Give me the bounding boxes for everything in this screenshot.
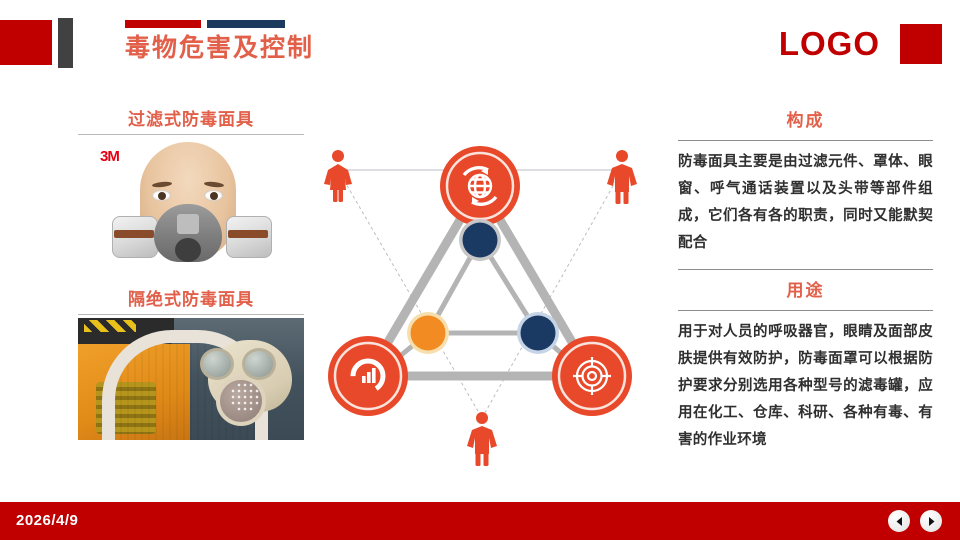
logo-square <box>900 24 942 64</box>
triangle-network-diagram <box>300 118 660 468</box>
right-text-column: 构成 防毒面具主要是由过滤元件、罩体、眼窗、呼气通话装置以及头带等部件组成，它们… <box>678 108 933 454</box>
footer-date: 2026/4/9 <box>16 512 78 529</box>
hazard-tape <box>84 320 136 332</box>
filter-respirator-photo: 3M <box>78 138 304 278</box>
left-image-column: 过滤式防毒面具 3M 隔绝式防毒面具 <box>78 108 304 440</box>
person-male-bottom <box>467 412 497 466</box>
pupil-left <box>158 192 166 200</box>
person-female-left <box>324 150 352 202</box>
outer-node-chart <box>328 336 408 416</box>
header-accent-bar-navy <box>207 20 285 28</box>
section-rule-1 <box>678 140 933 141</box>
prev-slide-button[interactable] <box>888 510 910 532</box>
caption-rule-bottom <box>78 314 304 315</box>
outer-node-globe <box>440 146 520 226</box>
inner-node-orange <box>407 312 449 354</box>
header-gray-block <box>58 18 73 68</box>
caption-rule-top <box>78 134 304 135</box>
header-red-block <box>0 20 52 65</box>
next-slide-button[interactable] <box>920 510 942 532</box>
filter-perforation-grid <box>230 382 260 412</box>
slide-root: 毒物危害及控制 LOGO 过滤式防毒面具 3M 隔绝式防毒面具 <box>0 0 960 540</box>
pupil-right <box>210 192 218 200</box>
outer-node-target <box>552 336 632 416</box>
mask-lens-right <box>242 348 276 380</box>
cartridge-strip-left <box>114 230 154 238</box>
section-rule-2 <box>678 269 933 270</box>
section-title-usage: 用途 <box>678 278 933 304</box>
arrow-right-icon <box>925 515 938 528</box>
person-male-right <box>607 150 637 204</box>
inner-node-navy-top <box>459 219 501 261</box>
panel-caption-filter: 过滤式防毒面具 <box>78 108 304 132</box>
slide-header: 毒物危害及控制 LOGO <box>0 0 960 92</box>
brand-3m-label: 3M <box>100 148 119 165</box>
mask-center-plate <box>177 214 199 234</box>
arrow-left-icon <box>893 515 906 528</box>
cartridge-strip-right <box>228 230 268 238</box>
mask-lens-left <box>200 348 234 380</box>
section-title-composition: 构成 <box>678 108 933 134</box>
page-title: 毒物危害及控制 <box>125 33 314 63</box>
header-accent-bar-red <box>125 20 201 28</box>
slide-footer: 2026/4/9 <box>0 502 960 540</box>
inner-node-navy-right <box>517 312 559 354</box>
exhalation-valve <box>175 238 201 262</box>
isolating-gas-mask-photo <box>78 318 304 440</box>
section-body-composition: 防毒面具主要是由过滤元件、罩体、眼窗、呼气通话装置以及头带等部件组成，它们各有各… <box>678 149 933 257</box>
logo-text: LOGO <box>779 26 880 62</box>
section-rule-3 <box>678 310 933 311</box>
section-body-usage: 用于对人员的呼吸器官，眼睛及面部皮肤提供有效防护，防毒面罩可以根据防护要求分别选… <box>678 319 933 454</box>
panel-caption-isolating: 隔绝式防毒面具 <box>78 288 304 312</box>
